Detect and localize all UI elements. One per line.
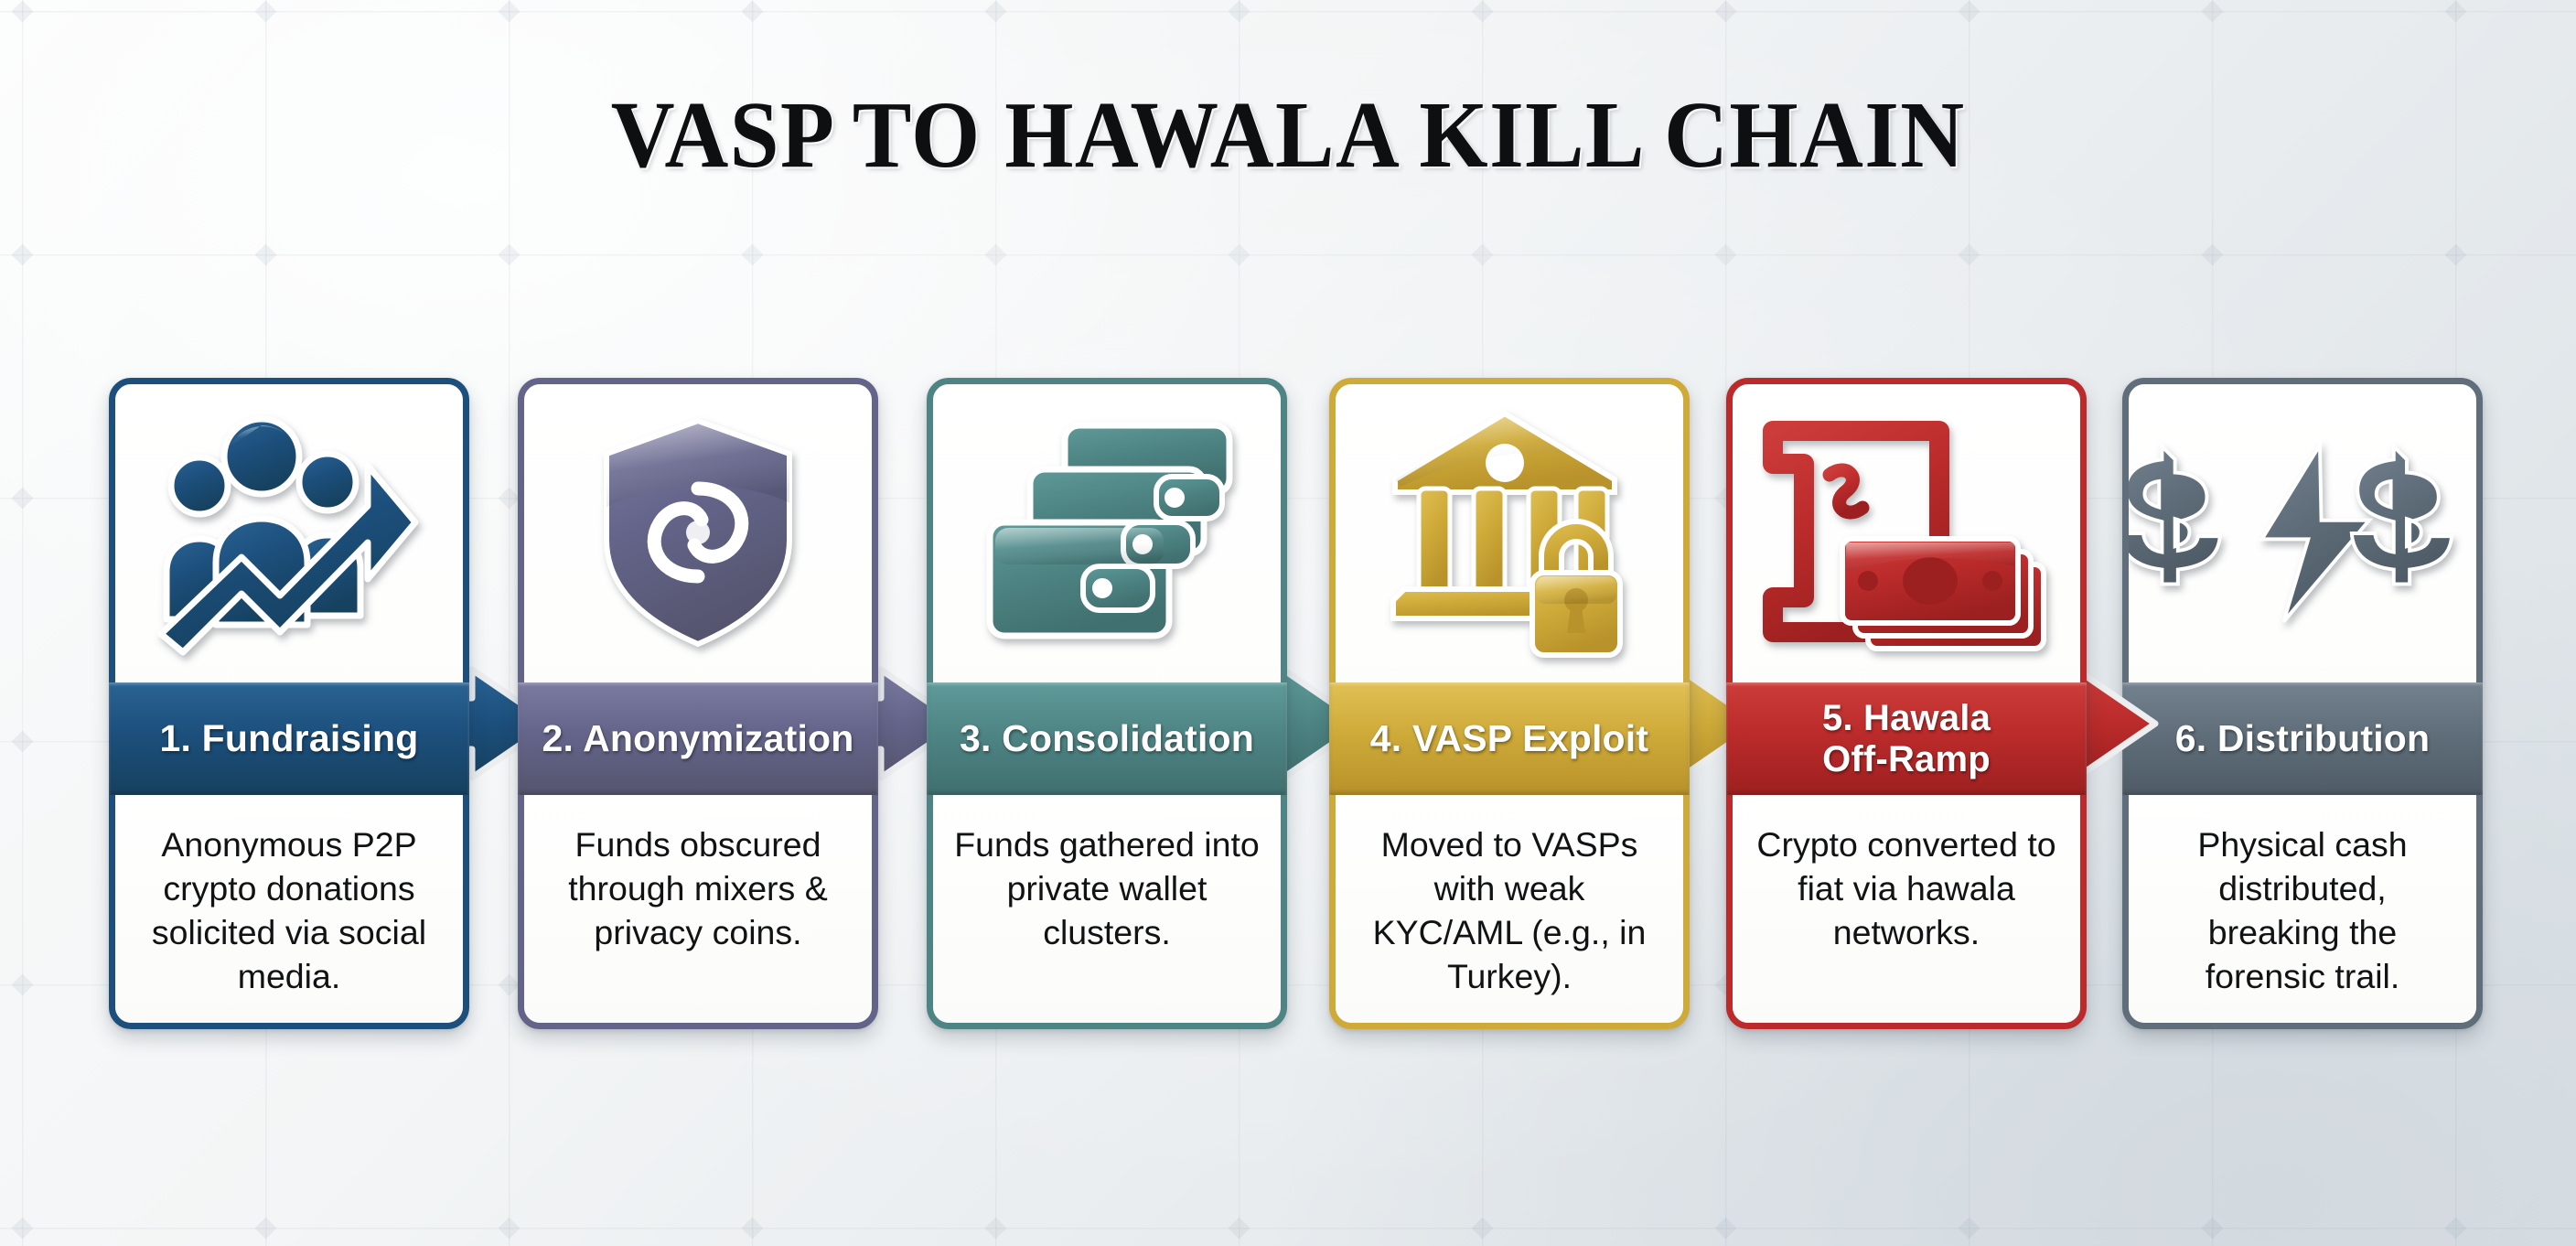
grid-node xyxy=(741,0,763,22)
step-label-6: 6. Distribution xyxy=(2163,719,2443,758)
step-card-4[interactable]: 4. VASP ExploitMoved to VASPs with weak … xyxy=(1329,378,1690,1029)
grid-node xyxy=(1471,1217,1493,1239)
grid-node xyxy=(2444,243,2466,265)
step-header-band-2[interactable]: 2. Anonymization xyxy=(518,682,878,795)
grid-node xyxy=(254,0,276,22)
step-label-2: 2. Anonymization xyxy=(529,719,866,758)
grid-node xyxy=(1714,0,1736,22)
grid-node xyxy=(1958,243,1980,265)
grid-node xyxy=(11,0,33,22)
grid-node xyxy=(498,1217,520,1239)
grid-node xyxy=(984,243,1006,265)
step-card-5[interactable]: 5. Hawala Off-RampCrypto converted to fi… xyxy=(1726,378,2087,1029)
step-card-3[interactable]: 3. ConsolidationFunds gathered into priv… xyxy=(927,378,1287,1029)
grid-node xyxy=(2444,0,2466,22)
page-title-wrap: VASP TO HAWALA KILL CHAIN xyxy=(0,88,2576,183)
grid-node xyxy=(1471,243,1493,265)
people-growth-arrow-icon xyxy=(115,384,463,682)
step-label-3: 3. Consolidation xyxy=(947,719,1267,758)
grid-node xyxy=(2201,243,2223,265)
grid-node xyxy=(254,1217,276,1239)
grid-node xyxy=(1471,0,1493,22)
step-description-2: Funds obscured through mixers & privacy … xyxy=(524,795,872,1023)
infographic-canvas: VASP TO HAWALA KILL CHAIN xyxy=(0,0,2576,1246)
grid-node xyxy=(741,1217,763,1239)
grid-node xyxy=(2201,1217,2223,1239)
wallet-stack-icon xyxy=(933,384,1281,682)
step-header-band-3[interactable]: 3. Consolidation xyxy=(927,682,1287,795)
step-header-band-5[interactable]: 5. Hawala Off-Ramp xyxy=(1726,682,2087,795)
step-description-3: Funds gathered into private wallet clust… xyxy=(933,795,1281,1023)
grid-node xyxy=(2201,0,2223,22)
grid-node xyxy=(1714,243,1736,265)
grid-node xyxy=(1714,1217,1736,1239)
dollar-lightning-icon xyxy=(2129,384,2476,682)
step-description-4: Moved to VASPs with weak KYC/AML (e.g., … xyxy=(1336,795,1683,1023)
step-header-band-6[interactable]: 6. Distribution xyxy=(2122,682,2483,795)
bank-padlock-icon xyxy=(1336,384,1683,682)
step-card-6[interactable]: 6. DistributionPhysical cash distributed… xyxy=(2122,378,2483,1029)
grid-node xyxy=(254,243,276,265)
step-label-4: 4. VASP Exploit xyxy=(1358,719,1662,758)
step-label-5: 5. Hawala Off-Ramp xyxy=(1809,698,2003,780)
grid-node xyxy=(498,0,520,22)
grid-node xyxy=(741,243,763,265)
step-description-1: Anonymous P2P crypto donations solicited… xyxy=(115,795,463,1023)
grid-node xyxy=(984,0,1006,22)
step-header-band-4[interactable]: 4. VASP Exploit xyxy=(1329,682,1690,795)
kill-chain-steps: 1. FundraisingAnonymous P2P crypto donat… xyxy=(0,378,2576,1037)
receipt-cash-icon xyxy=(1733,384,2080,682)
step-label-1: 1. Fundraising xyxy=(147,719,432,758)
grid-node xyxy=(1228,0,1250,22)
shield-swirl-icon xyxy=(524,384,872,682)
grid-node xyxy=(11,243,33,265)
grid-node xyxy=(498,243,520,265)
grid-node xyxy=(1958,1217,1980,1239)
grid-node xyxy=(1228,243,1250,265)
grid-node xyxy=(984,1217,1006,1239)
grid-node xyxy=(2444,1217,2466,1239)
page-title: VASP TO HAWALA KILL CHAIN xyxy=(611,88,1966,183)
step-header-band-1[interactable]: 1. Fundraising xyxy=(109,682,469,795)
grid-node xyxy=(1958,0,1980,22)
grid-node xyxy=(11,1217,33,1239)
step-description-5: Crypto converted to fiat via hawala netw… xyxy=(1733,795,2080,1023)
step-card-1[interactable]: 1. FundraisingAnonymous P2P crypto donat… xyxy=(109,378,469,1029)
step-card-2[interactable]: 2. AnonymizationFunds obscured through m… xyxy=(518,378,878,1029)
grid-node xyxy=(1228,1217,1250,1239)
step-description-6: Physical cash distributed, breaking the … xyxy=(2129,795,2476,1023)
